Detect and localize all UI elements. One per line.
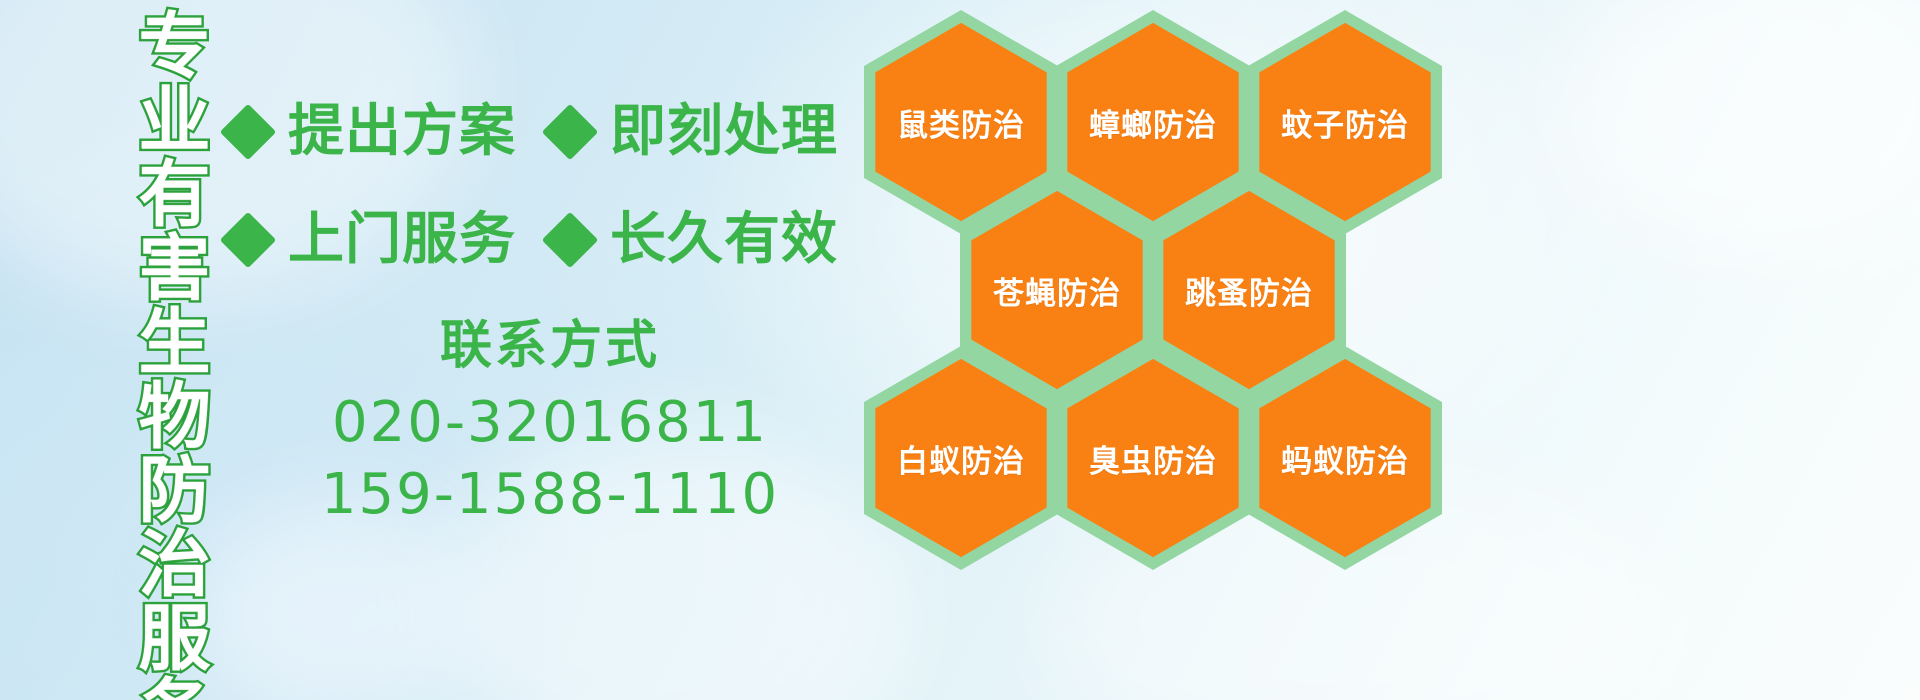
vertical-company-title: 专业有害生物防治服务 <box>108 8 204 700</box>
feature-row: 提出方案 即刻处理 <box>228 78 868 186</box>
feature-label: 上门服务 <box>288 212 516 268</box>
hex-label: 蟑螂防治 <box>1089 100 1217 145</box>
background-light-blob <box>1560 0 1920 260</box>
feature-item-propose-plan: 提出方案 <box>228 104 516 160</box>
feature-label: 即刻处理 <box>610 104 838 160</box>
diamond-bullet-icon <box>542 212 599 269</box>
feature-item-immediate-handling: 即刻处理 <box>550 104 838 160</box>
contact-title: 联系方式 <box>300 318 800 375</box>
hex-service-bedbug[interactable]: 臭虫防治 <box>1056 346 1250 570</box>
hex-label: 臭虫防治 <box>1089 436 1217 481</box>
diamond-bullet-icon <box>220 104 277 161</box>
contact-phone-landline[interactable]: 020-32016811 <box>300 387 800 459</box>
hex-label: 蚊子防治 <box>1281 100 1409 145</box>
diamond-bullet-icon <box>542 104 599 161</box>
hex-label: 白蚁防治 <box>897 436 1025 481</box>
feature-label: 长久有效 <box>610 212 838 268</box>
diamond-bullet-icon <box>220 212 277 269</box>
contact-phone-mobile[interactable]: 159-1588-1110 <box>300 459 800 531</box>
hex-service-termite[interactable]: 白蚁防治 <box>864 346 1058 570</box>
hex-label: 跳蚤防治 <box>1185 268 1313 313</box>
service-hex-grid: 鼠类防治 蟑螂防治 蚊子防治 苍蝇防治 跳蚤防治 白蚁防治 <box>856 0 1456 576</box>
contact-block: 联系方式 020-32016811 159-1588-1110 <box>300 318 800 531</box>
feature-list: 提出方案 即刻处理 上门服务 长久有效 <box>228 78 868 294</box>
hex-label: 鼠类防治 <box>897 100 1025 145</box>
feature-item-onsite-service: 上门服务 <box>228 212 516 268</box>
hex-label: 苍蝇防治 <box>993 268 1121 313</box>
feature-label: 提出方案 <box>288 104 516 160</box>
hex-service-ant[interactable]: 蚂蚁防治 <box>1248 346 1442 570</box>
hex-label: 蚂蚁防治 <box>1281 436 1409 481</box>
promo-banner: 专业有害生物防治服务 提出方案 即刻处理 上门服务 长久有效 <box>0 0 1920 700</box>
feature-item-long-lasting: 长久有效 <box>550 212 838 268</box>
feature-row: 上门服务 长久有效 <box>228 186 868 294</box>
